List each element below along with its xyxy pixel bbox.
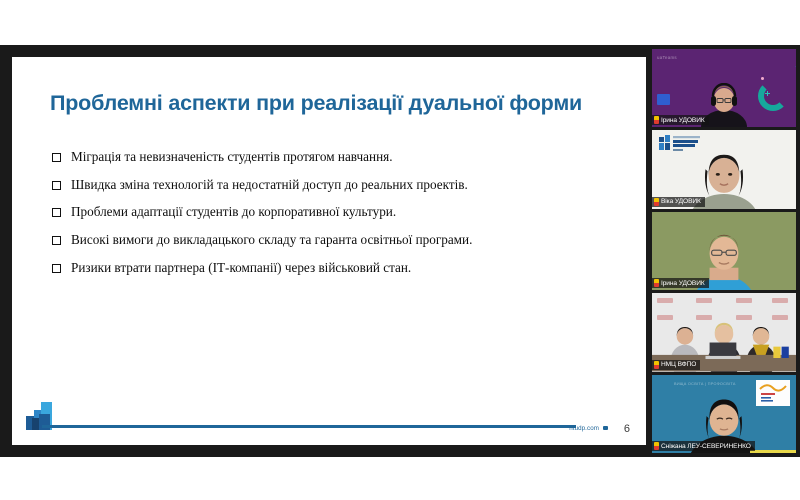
bullet-item: Високі вимоги до викладацького складу та… (52, 232, 622, 247)
participant-tile-strip: uaTeams Ірина УДОВИК (652, 49, 796, 453)
participant-name-tag: Сніжана ЛЕУ-СЕВЕРИНЕНКО (652, 441, 755, 451)
participant-name-tag: Ірина УДОВИК (652, 278, 709, 288)
slide-title: Проблемні аспекти при реалізації дуально… (50, 91, 582, 116)
bullet-text: Високі вимоги до викладацького складу та… (71, 232, 472, 247)
participant-tile-1[interactable]: uaTeams Ірина УДОВИК (652, 49, 796, 127)
checkbox-bullet-icon (52, 264, 61, 273)
participant-name-tag: НМЦ ВФПО (652, 360, 700, 370)
participant-name: Сніжана ЛЕУ-СЕВЕРИНЕНКО (661, 443, 751, 450)
participant-name: Ірина УДОВИК (661, 280, 705, 287)
bullet-item: Ризики втрати партнера (ІТ-компанії) чер… (52, 260, 622, 275)
checkbox-bullet-icon (52, 236, 61, 245)
decor-dot-icon (761, 77, 764, 80)
footer-dot-icon (603, 426, 608, 430)
slide-bullet-list: Міграція та невизначеність студентів про… (52, 149, 622, 287)
checkbox-bullet-icon (52, 208, 61, 217)
tile-watermark: uaTeams (657, 55, 677, 60)
bullet-text: Ризики втрати партнера (ІТ-компанії) чер… (71, 260, 411, 275)
slide-page-number: 6 (624, 423, 630, 435)
bullet-item: Міграція та невизначеність студентів про… (52, 149, 622, 164)
mic-flag-icon (654, 361, 659, 369)
participant-name: НМЦ ВФПО (661, 361, 696, 368)
bullet-text: Проблеми адаптації студентів до корпорат… (71, 204, 396, 219)
participant-tile-3[interactable]: Ірина УДОВИК (652, 212, 796, 290)
mic-flag-icon (654, 279, 659, 287)
participant-tile-2[interactable]: Віка УДОВИК (652, 130, 796, 208)
bullet-text: Міграція та невизначеність студентів про… (71, 149, 393, 164)
footer-divider (42, 425, 576, 428)
participant-name-tag: Віка УДОВИК (652, 197, 705, 207)
participant-name: Ірина УДОВИК (661, 117, 705, 124)
checkbox-bullet-icon (52, 153, 61, 162)
decor-badge-icon (657, 94, 670, 105)
participant-name: Віка УДОВИК (661, 198, 701, 205)
screenshot-root: Проблемні аспекти при реалізації дуально… (0, 0, 800, 500)
participant-name-tag: Ірина УДОВИК (652, 115, 709, 125)
participant-tile-4[interactable]: НМЦ ВФПО (652, 293, 796, 371)
slide-footer: ntudp.com 6 (12, 387, 646, 445)
bullet-text: Швидка зміна технологій та недостатній д… (71, 177, 468, 192)
decor-bar (750, 450, 796, 453)
participant-tile-5[interactable]: ВИЩА ОСВІТА | ПРОФОСВІТА (652, 375, 796, 453)
footer-website-link[interactable]: ntudp.com (569, 425, 599, 432)
mic-flag-icon (654, 116, 659, 124)
mic-flag-icon (654, 442, 659, 450)
bullet-item: Швидка зміна технологій та недостатній д… (52, 177, 622, 192)
mic-flag-icon (654, 198, 659, 206)
shared-slide[interactable]: Проблемні аспекти при реалізації дуально… (12, 57, 646, 445)
checkbox-bullet-icon (52, 181, 61, 190)
conference-stage: Проблемні аспекти при реалізації дуально… (0, 45, 800, 457)
bullet-item: Проблеми адаптації студентів до корпорат… (52, 204, 622, 219)
